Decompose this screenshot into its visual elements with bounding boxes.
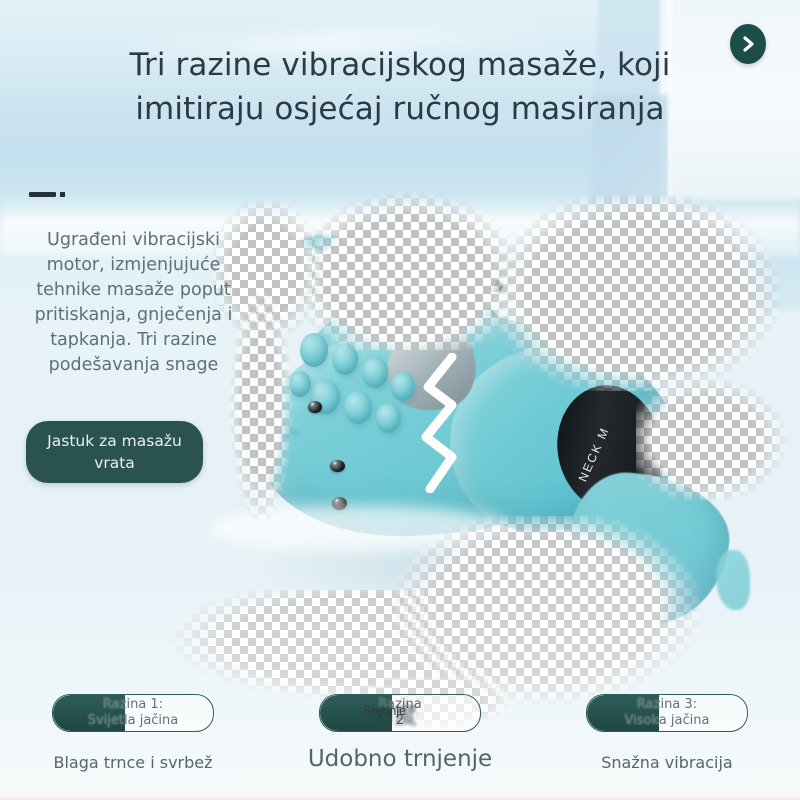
- product-band-label: NECK M: [576, 425, 613, 484]
- transparency-checker-artifact: [283, 190, 533, 350]
- level-2-overlay-label: Srednje: [363, 704, 406, 718]
- level-1-caption: Blaga trnce i svrbež: [0, 752, 266, 774]
- transparency-checker-artifact: [636, 380, 800, 500]
- level-3-pill[interactable]: Razina 3: Visoka jačina: [586, 694, 748, 732]
- page-title: Tri razine vibracijskog masaže, koji imi…: [0, 43, 800, 131]
- chevron-right-icon: [742, 36, 755, 52]
- intensity-level-1: Razina 1: Svijetla jačina Blaga trnce i …: [0, 694, 266, 774]
- dash-dot: [60, 192, 65, 197]
- level-3-pill-text: Razina 3: Visoka jačina: [587, 695, 747, 731]
- level-3-caption: Snažna vibracija: [534, 752, 800, 774]
- intro-paragraph: Ugrađeni vibracijski motor, izmjenjujuće…: [26, 228, 241, 378]
- dash-dot-decoration: [29, 192, 65, 197]
- level-1-pill[interactable]: Razina 1: Svijetla jačina: [52, 694, 214, 732]
- level-3-line-2: Visoka jačina: [625, 713, 710, 729]
- vibration-zigzag-icon: [412, 353, 470, 493]
- dash-bar: [29, 192, 56, 197]
- product-nub: [344, 391, 372, 424]
- next-slide-button[interactable]: [730, 24, 766, 64]
- product-sensor: [330, 460, 345, 472]
- product-nub: [362, 357, 388, 388]
- intensity-level-3: Razina 3: Visoka jačina Snažna vibracija: [534, 694, 800, 774]
- level-1-pill-text: Razina 1: Svijetla jačina: [53, 695, 213, 731]
- transparency-checker-artifact: [500, 196, 800, 391]
- product-category-badge[interactable]: Jastuk za masažu vrata: [26, 421, 203, 483]
- level-1-line-1: Razina 1:: [103, 697, 163, 713]
- product-promo-slide: NECK M Tri razine vibracijskog masaže, k…: [0, 0, 800, 800]
- level-2-caption: Udobno trnjenje: [267, 744, 533, 774]
- level-3-line-1: Razina 3:: [637, 697, 697, 713]
- level-1-line-2: Svijetla jačina: [88, 713, 179, 729]
- product-nub: [376, 403, 401, 433]
- product-sensor: [308, 401, 322, 413]
